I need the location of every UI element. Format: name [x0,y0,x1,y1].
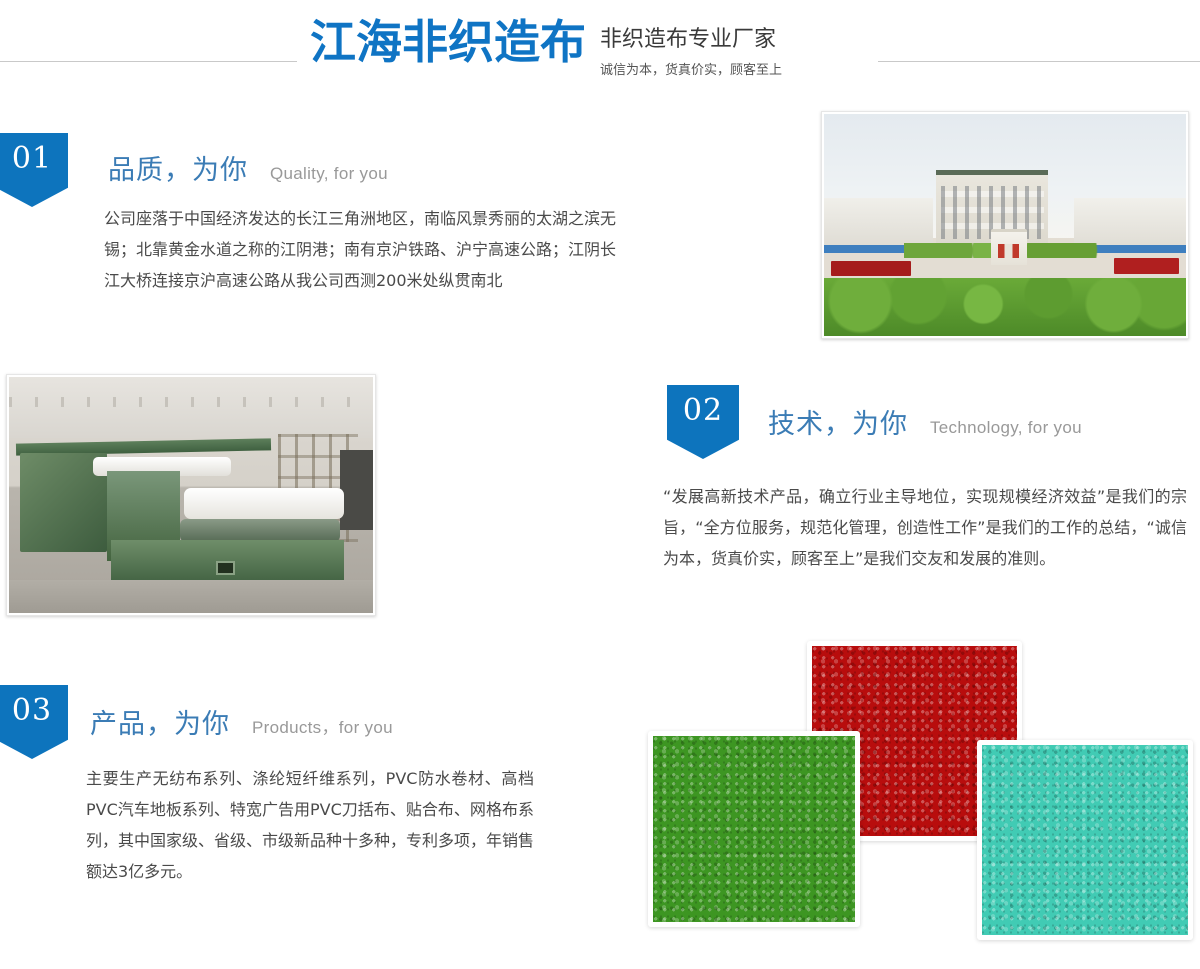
section-body-02: “发展高新技术产品，确立行业主导地位，实现规模经济效益”是我们的宗旨，“全方位服… [663,481,1187,574]
company-profile-page: 江海非织造布 非织造布专业厂家 诚信为本，货真价实，顾客至上 01 品质，为你 … [0,0,1200,969]
green-leather-texture [653,736,855,922]
workshop-floor [9,580,373,613]
section-title-cn-02: 技术，为你 [768,402,908,441]
section-title-en-03: Products，for you [252,713,393,738]
turquoise-leather-texture [982,745,1188,935]
section-title-cn-03: 产品，为你 [90,702,230,741]
factory-tree-hedge [824,278,1186,336]
header-divider-right [878,61,1200,62]
brand-slogan-main: 非织造布专业厂家 [600,26,782,55]
green-leather-swatch [648,731,860,927]
section-title-03: 产品，为你 Products，for you [90,702,393,741]
section-number-01: 01 [0,133,68,185]
turquoise-leather-swatch [977,740,1193,940]
section-badge-02: 02 [667,385,739,459]
factory-photo-canvas [824,114,1186,336]
section-badge-01: 01 [0,133,68,207]
section-badge-03: 03 [0,685,68,759]
brand-slogan-group: 非织造布专业厂家 诚信为本，货真价实，顾客至上 [600,14,782,79]
section-title-cn-01: 品质，为你 [108,148,248,187]
factory-gatehouse [991,229,1027,265]
machine-access-port [216,561,234,575]
factory-signboard-left [831,261,911,277]
brand-slogan-sub: 诚信为本，货真价实，顾客至上 [600,63,782,80]
fabric-roll-main [184,488,344,519]
machinery-photo-canvas [9,377,373,613]
factory-workshop-left [824,198,933,247]
section-title-en-02: Technology, for you [930,418,1082,438]
brand-name-cn: 江海非织造布 [310,14,586,70]
machine-drum [180,519,340,543]
factory-signboard-right [1114,258,1179,274]
section-body-01: 公司座落于中国经济发达的长江三角洲地区，南临风景秀丽的太湖之滨无锡；北靠黄金水道… [104,203,616,296]
section-number-02: 02 [667,385,739,437]
section-number-03: 03 [0,685,68,737]
machinery-photo [6,374,376,616]
section-title-02: 技术，为你 Technology, for you [768,402,1082,441]
section-body-03: 主要生产无纺布系列、涤纶短纤维系列，PVC防水卷材、高档PVC汽车地板系列、特宽… [86,763,534,887]
workshop-ceiling [9,377,373,438]
brand-logo: 江海非织造布 非织造布专业厂家 诚信为本，货真价实，顾客至上 [310,14,782,79]
factory-workshop-right [1074,198,1186,247]
factory-photo [821,111,1189,339]
machine-control-cabinet [340,450,373,530]
page-header: 江海非织造布 非织造布专业厂家 诚信为本，货真价实，顾客至上 [0,0,1200,100]
section-title-01: 品质，为你 Quality, for you [108,148,388,187]
section-title-en-01: Quality, for you [270,164,388,184]
header-divider-left [0,61,297,62]
